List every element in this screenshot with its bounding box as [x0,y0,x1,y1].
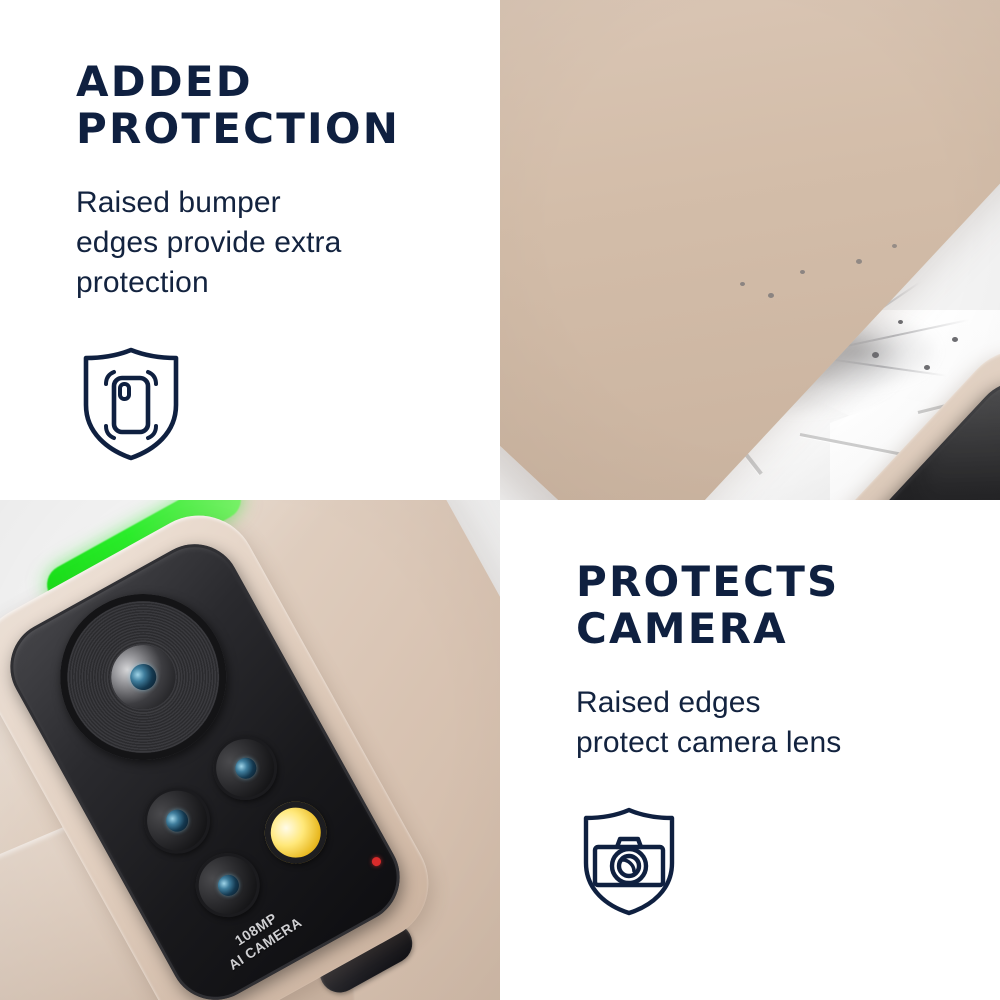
shield-camera-icon-wrap [576,805,954,917]
lens-glass [231,754,260,783]
camera-lens [184,842,271,929]
indicator-dot [370,856,382,868]
quadrant-impact-photo: 108MP AI CAMERA [500,0,1000,500]
protects-camera-headline: PROTECTS CAMERA [576,558,954,653]
debris-particle [740,282,745,286]
quadrant-protects-camera: PROTECTS CAMERA Raised edges protect cam… [500,500,1000,1000]
quadrant-case-photo: 108MP AI CAMERA [0,500,500,1000]
camera-flash [254,790,338,874]
shield-camera-icon [576,805,682,917]
debris-particle [856,259,862,264]
debris-particle [892,244,897,248]
impact-photo-stage: 108MP AI CAMERA [500,0,1000,500]
debris-particle [924,365,930,370]
camera-lens [202,725,289,812]
shield-phone-icon [76,345,186,463]
debris-particle [872,352,879,358]
added-protection-subtext: Raised bumper edges provide extra protec… [76,183,454,303]
protects-camera-subtext: Raised edges protect camera lens [576,683,954,763]
debris-particle [800,270,805,274]
quadrant-added-protection: ADDED PROTECTION Raised bumper edges pro… [0,0,500,500]
debris-particle [952,337,958,342]
added-protection-headline: ADDED PROTECTION [76,58,454,153]
shield-phone-icon-wrap [76,345,454,463]
lens-glass [213,871,242,900]
debris-particle [898,320,903,324]
case-photo-stage: 108MP AI CAMERA [0,500,500,1000]
lens-glass [162,806,192,836]
debris-particle [768,293,774,298]
feature-panel-grid: ADDED PROTECTION Raised bumper edges pro… [0,0,1000,1000]
camera-lens [132,776,222,866]
